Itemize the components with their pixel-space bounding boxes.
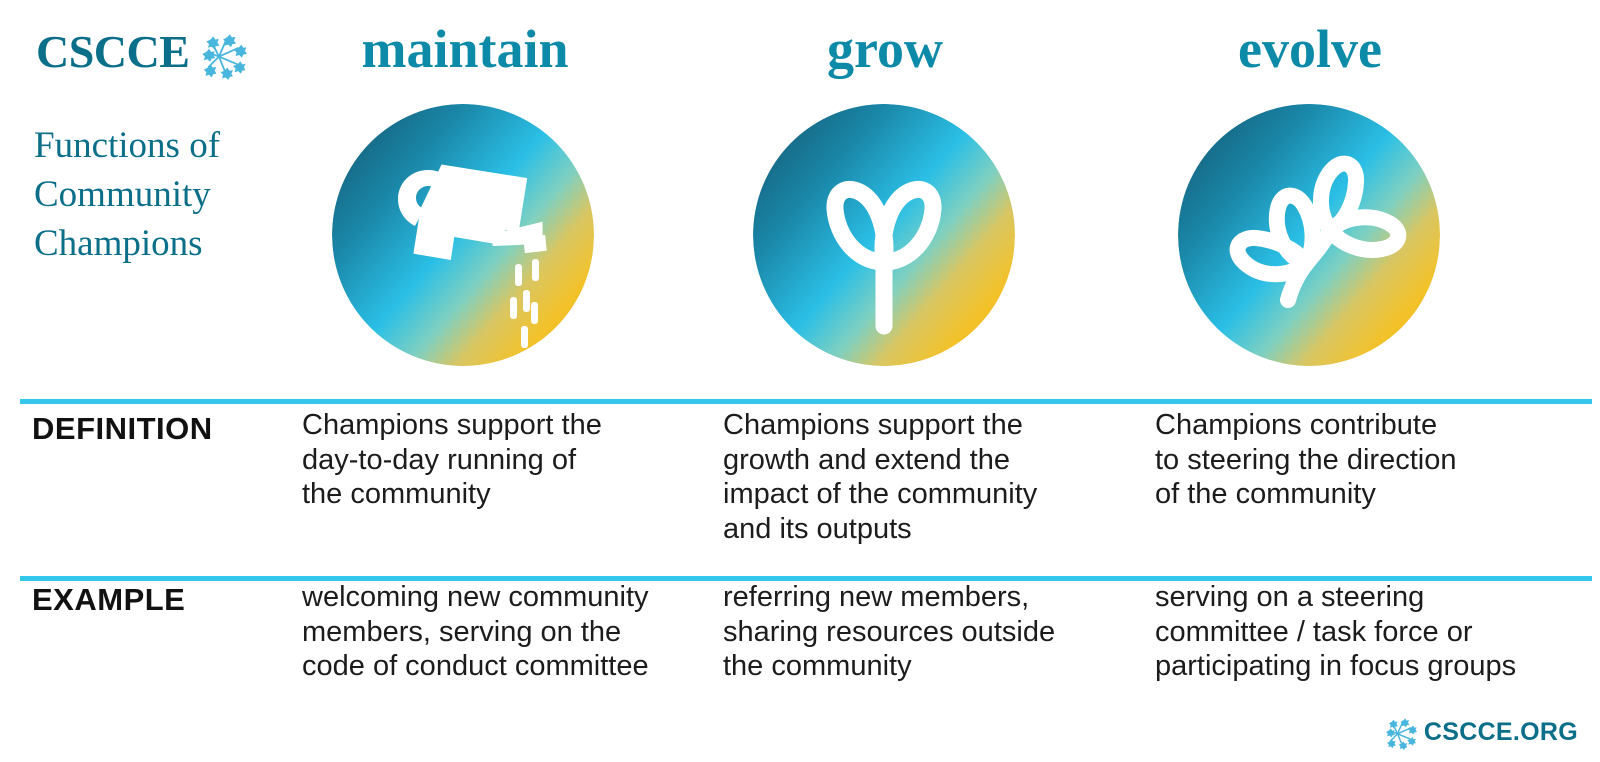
- example-grow: referring new members, sharing resources…: [723, 580, 1143, 684]
- column-header-maintain: maintain: [300, 22, 630, 76]
- icon-circle-maintain: [332, 104, 594, 366]
- row-label-example: EXAMPLE: [32, 582, 185, 618]
- network-icon: [1381, 714, 1417, 750]
- cscce-wordmark: CSCCE: [36, 29, 189, 75]
- icon-circle-evolve: [1178, 104, 1440, 366]
- example-evolve: serving on a steering committee / task f…: [1155, 580, 1600, 684]
- column-header-grow: grow: [725, 22, 1045, 76]
- network-icon: [195, 28, 247, 80]
- page-title: Functions of Community Champions: [34, 122, 304, 268]
- column-header-evolve: evolve: [1150, 22, 1470, 76]
- definition-grow: Champions support the growth and extend …: [723, 408, 1143, 546]
- branch-leaves-icon: [1178, 104, 1440, 366]
- icon-circle-grow: [753, 104, 1015, 366]
- definition-evolve: Champions contribute to steering the dir…: [1155, 408, 1600, 512]
- footer-logo[interactable]: CSCCE.ORG: [1381, 714, 1578, 750]
- watering-can-icon: [332, 104, 594, 366]
- footer-label: CSCCE.ORG: [1424, 720, 1578, 745]
- sprout-icon: [753, 104, 1015, 366]
- example-maintain: welcoming new community members, serving…: [302, 580, 722, 684]
- infographic-page: CSCCE Functions of Community C: [0, 0, 1600, 762]
- cscce-logo: CSCCE: [36, 24, 247, 80]
- definition-maintain: Champions support the day-to-day running…: [302, 408, 722, 512]
- divider-definition: [20, 399, 1592, 404]
- row-label-definition: DEFINITION: [32, 411, 213, 447]
